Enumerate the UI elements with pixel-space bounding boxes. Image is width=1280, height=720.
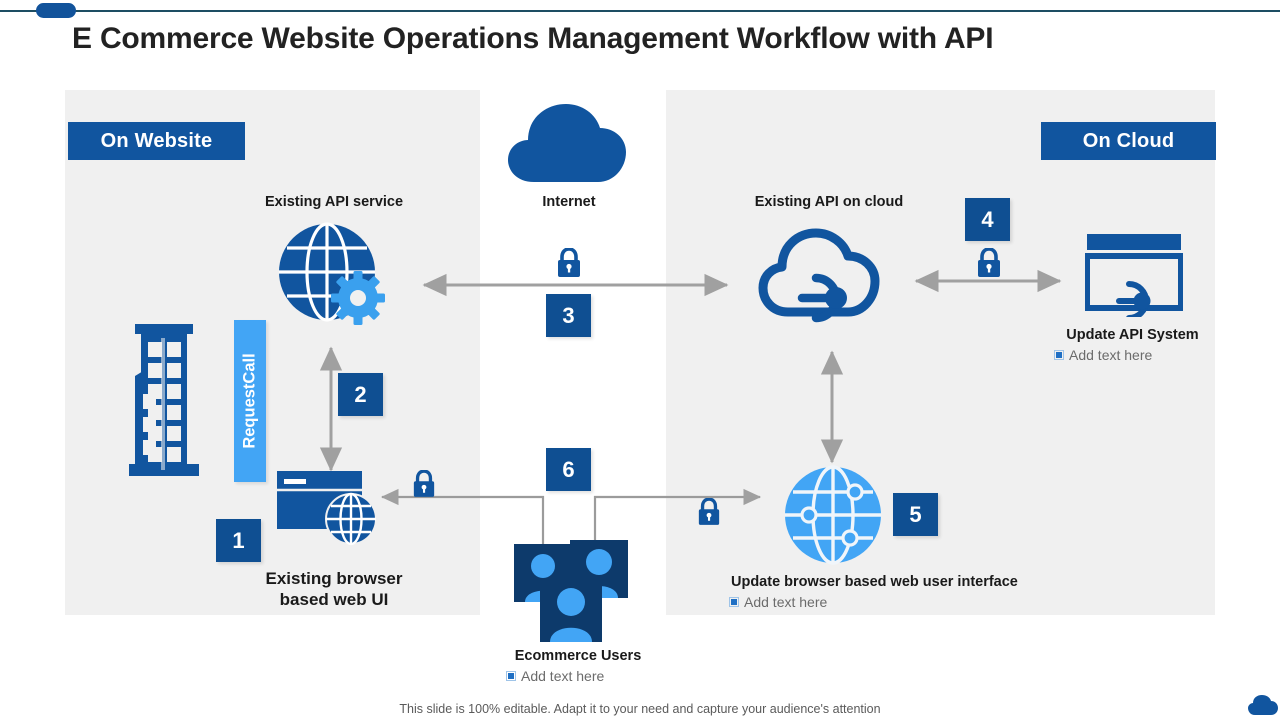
label-update-api-system: Update API System — [1030, 327, 1235, 343]
label-existing-browser-ui: Existing browser based web UI — [233, 568, 435, 611]
label-internet: Internet — [508, 194, 630, 210]
globe-gear-icon — [272, 222, 390, 330]
bullet-text-ecommerce-users: Add text here — [521, 668, 604, 684]
label-ecommerce-users: Ecommerce Users — [468, 648, 688, 664]
label-existing-browser-ui-line2: based web UI — [233, 589, 435, 610]
label-existing-api-service: Existing API service — [258, 194, 410, 210]
bullet-update-api-system: Add text here — [1056, 347, 1152, 363]
bullet-dot-icon — [508, 673, 514, 679]
users-group-icon — [512, 540, 630, 648]
browser-globe-icon — [276, 468, 381, 546]
slide-canvas: E Commerce Website Operations Management… — [0, 0, 1280, 720]
lock-icon-users-existing-ui — [412, 470, 436, 503]
step-badge-6: 6 — [546, 448, 591, 491]
cloud-api-icon — [758, 226, 886, 326]
label-existing-browser-ui-line1: Existing browser — [233, 568, 435, 589]
label-update-browser-ui: Update browser based web user interface — [731, 574, 1051, 590]
office-building-icon — [101, 320, 211, 480]
step-badge-1: 1 — [216, 519, 261, 562]
bullet-text-update-api-system: Add text here — [1069, 347, 1152, 363]
label-existing-api-cloud: Existing API on cloud — [746, 194, 912, 210]
footer-note: This slide is 100% editable. Adapt it to… — [0, 702, 1280, 716]
lock-icon-internet-link — [556, 248, 582, 283]
bullet-text-update-browser-ui: Add text here — [744, 594, 827, 610]
bullet-dot-icon — [731, 599, 737, 605]
lock-icon-users-updated-ui — [697, 498, 721, 531]
bullet-ecommerce-users: Add text here — [508, 668, 604, 684]
step-badge-5: 5 — [893, 493, 938, 536]
bullet-dot-icon — [1056, 352, 1062, 358]
bullet-update-browser-ui: Add text here — [731, 594, 827, 610]
network-globe-icon — [783, 465, 883, 565]
step-badge-4: 4 — [965, 198, 1010, 241]
lock-icon-cloud-api-system — [976, 248, 1002, 283]
step-badge-3: 3 — [546, 294, 591, 337]
step-badge-2: 2 — [338, 373, 383, 416]
cloud-logo-icon — [1248, 694, 1278, 716]
browser-window-api-icon — [1085, 232, 1183, 317]
cloud-icon — [508, 100, 630, 186]
request-call-bar: RequestCall — [234, 320, 266, 482]
request-call-label: RequestCall — [241, 353, 260, 448]
